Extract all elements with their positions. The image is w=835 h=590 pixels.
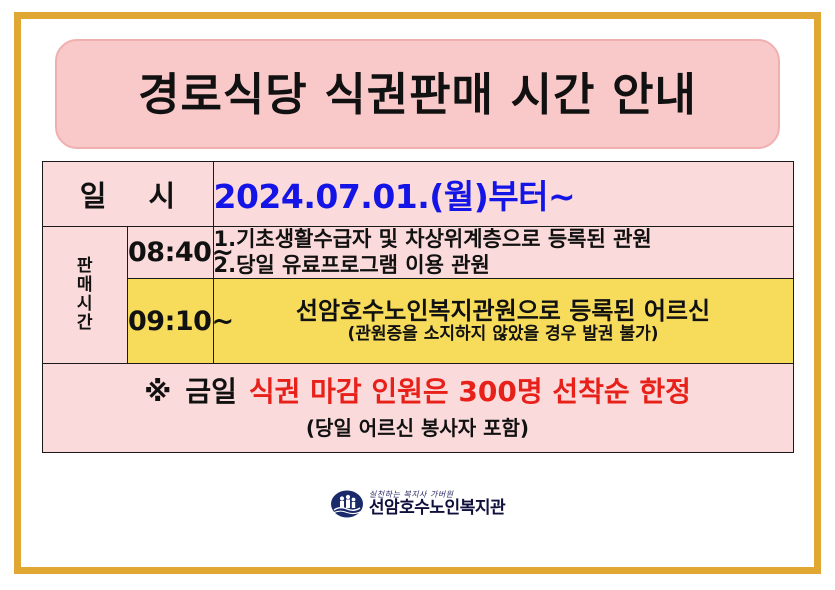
- datetime-label-cell: 일 시: [42, 162, 213, 227]
- time-value-0840: 08:40~: [128, 237, 213, 268]
- footer-logo-area: 실천하는 복지사 가버원 선암호수노인복지관: [39, 453, 796, 559]
- vertical-label-char-1: 매: [43, 276, 128, 295]
- notice-cell: ※금일식권 마감 인원은 300명 선착순 한정 (당일 어르신 봉사자 포함): [42, 364, 793, 453]
- logo-organization-name: 선암호수노인복지관: [369, 500, 505, 517]
- page-title: 경로식당 식권판매 시간 안내: [138, 72, 697, 117]
- datetime-value-cell: 2024.07.01.(월)부터~: [213, 162, 793, 227]
- time-cell-0910: 09:10~: [128, 279, 214, 364]
- vertical-label-char-2: 시: [43, 295, 128, 314]
- organization-logo: 실천하는 복지사 가버원 선암호수노인복지관: [330, 489, 505, 519]
- notice-lead-text: 금일: [185, 375, 237, 408]
- sales-time-vertical-label-cell: 판 매 시 간: [42, 227, 128, 364]
- vertical-label-char-3: 간: [43, 314, 128, 333]
- title-banner: 경로식당 식권판매 시간 안내: [55, 39, 780, 149]
- datetime-value: 2024.07.01.(월)부터~: [214, 170, 793, 218]
- table-row-0840: 판 매 시 간 08:40~ 1.기초생활수급자 및 차상위계층으로 등록된 관…: [42, 227, 793, 279]
- eligibility-line-1: 1.기초생활수급자 및 차상위계층으로 등록된 관원: [214, 227, 793, 253]
- eligibility-cell-0840: 1.기초생활수급자 및 차상위계층으로 등록된 관원 2.당일 유료프로그램 이…: [213, 227, 793, 279]
- welfare-center-emblem-icon: [330, 489, 364, 519]
- notice-main-line: ※금일식권 마감 인원은 300명 선착순 한정: [43, 375, 793, 409]
- notice-sub-text: (당일 어르신 봉사자 포함): [43, 412, 793, 441]
- eligibility-cell-0910: 선암호수노인복지관원으로 등록된 어르신 (관원증을 소지하지 않았을 경우 발…: [213, 279, 793, 364]
- table-row-notice: ※금일식권 마감 인원은 300명 선착순 한정 (당일 어르신 봉사자 포함): [42, 364, 793, 453]
- eligibility-line-2: 2.당일 유료프로그램 이용 관원: [214, 253, 793, 279]
- table-row-0910: 09:10~ 선암호수노인복지관원으로 등록된 어르신 (관원증을 소지하지 않…: [42, 279, 793, 364]
- table-row-datetime: 일 시 2024.07.01.(월)부터~: [42, 162, 793, 227]
- reference-mark-icon: ※: [144, 375, 171, 408]
- eligibility-main-0910: 선암호수노인복지관원으로 등록된 어르신: [214, 298, 793, 326]
- time-value-0910: 09:10~: [128, 306, 213, 337]
- eligibility-sub-0910: (관원증을 소지하지 않았을 경우 발권 불가): [214, 325, 793, 345]
- notice-highlight-text: 식권 마감 인원은 300명 선착순 한정: [249, 375, 691, 408]
- schedule-table: 일 시 2024.07.01.(월)부터~ 판 매 시 간: [42, 161, 794, 453]
- time-cell-0840: 08:40~: [128, 227, 214, 279]
- gold-frame-border: 경로식당 식권판매 시간 안내 일 시 2024.07.01.(월)부터~: [14, 12, 821, 574]
- logo-text-group: 실천하는 복지사 가버원 선암호수노인복지관: [369, 491, 505, 517]
- sales-time-vertical-label: 판 매 시 간: [43, 257, 128, 333]
- datetime-label: 일 시: [43, 173, 213, 215]
- poster-root: 경로식당 식권판매 시간 안내 일 시 2024.07.01.(월)부터~: [0, 0, 835, 590]
- vertical-label-char-0: 판: [43, 257, 128, 276]
